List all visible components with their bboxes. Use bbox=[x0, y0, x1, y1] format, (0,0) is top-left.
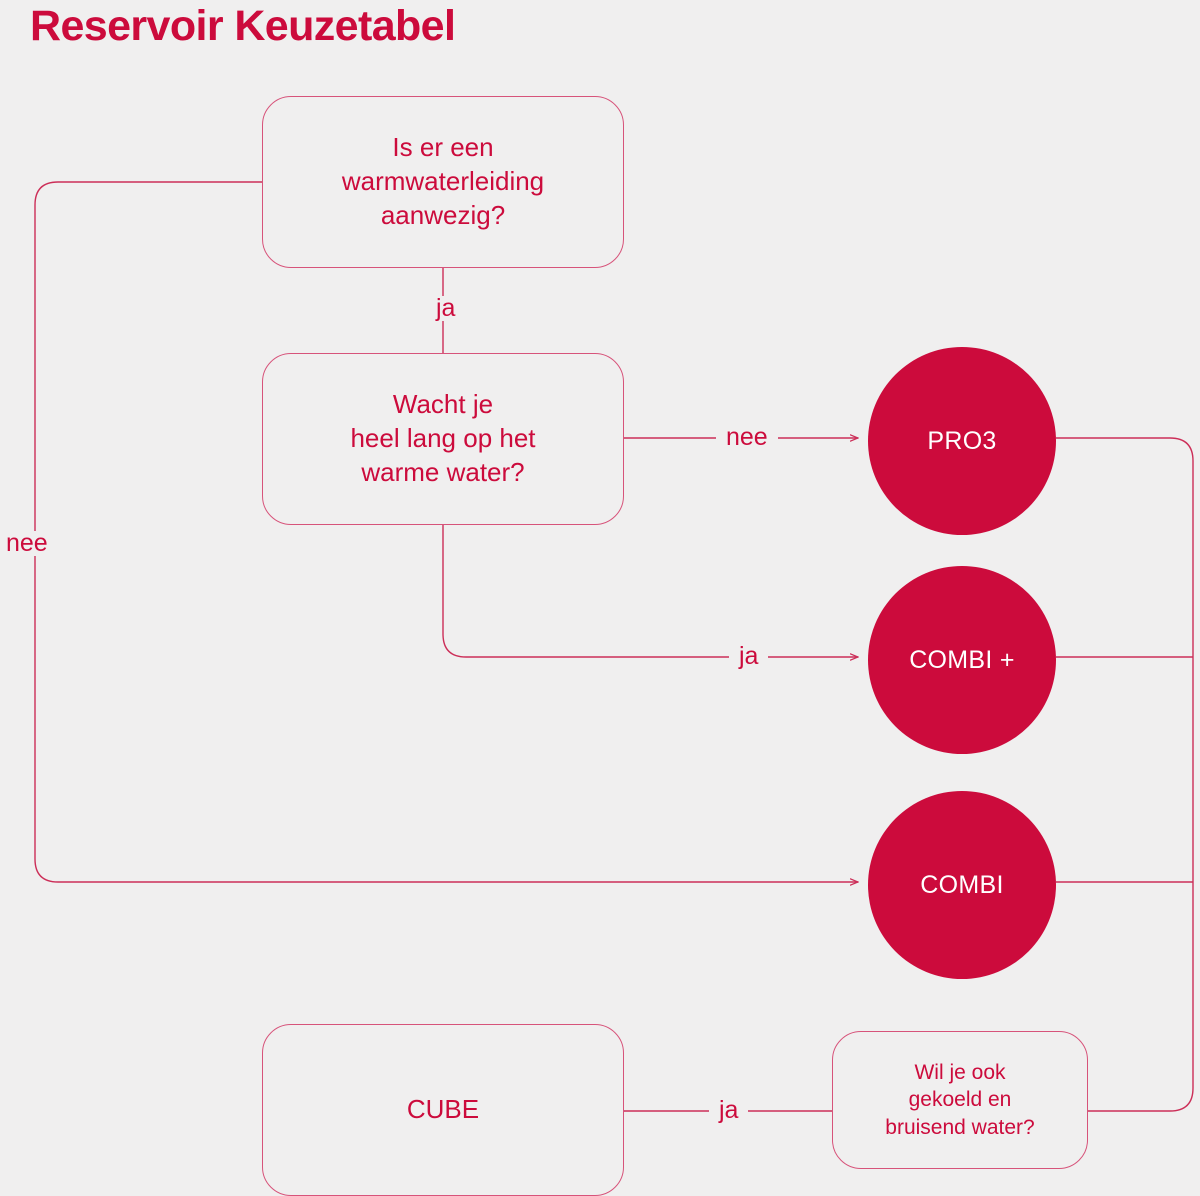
result-node-combi-plus-label: COMBI + bbox=[909, 646, 1015, 675]
edge-warmwater-nee bbox=[35, 182, 858, 882]
flowchart-canvas: Reservoir Keuzetabel Is er een warmwater… bbox=[0, 0, 1200, 1195]
decision-node-wachttijd-label: Wacht je heel lang op het warme water? bbox=[336, 388, 549, 489]
edge-label-wacht-nee: nee bbox=[716, 425, 778, 450]
result-node-cube-label: CUBE bbox=[393, 1093, 493, 1127]
edge-pro3-out bbox=[1056, 438, 1193, 1111]
decision-node-bruisend-water-label: Wil je ook gekoeld en bruisend water? bbox=[871, 1059, 1048, 1141]
result-node-combi[interactable]: COMBI bbox=[868, 791, 1056, 979]
page-title: Reservoir Keuzetabel bbox=[30, 2, 455, 51]
decision-node-bruisend-water[interactable]: Wil je ook gekoeld en bruisend water? bbox=[832, 1031, 1088, 1169]
edge-label-wacht-ja: ja bbox=[729, 644, 768, 669]
decision-node-warmwaterleiding[interactable]: Is er een warmwaterleiding aanwezig? bbox=[262, 96, 624, 268]
result-node-combi-label: COMBI bbox=[920, 871, 1003, 900]
decision-node-wachttijd[interactable]: Wacht je heel lang op het warme water? bbox=[262, 353, 624, 525]
result-node-cube[interactable]: CUBE bbox=[262, 1024, 624, 1196]
edge-wacht-ja bbox=[443, 525, 858, 657]
result-node-pro3-label: PRO3 bbox=[927, 427, 996, 456]
result-node-pro3[interactable]: PRO3 bbox=[868, 347, 1056, 535]
edge-label-warmwater-ja: ja bbox=[426, 296, 465, 321]
edge-label-bruisend-ja: ja bbox=[709, 1098, 748, 1123]
result-node-combi-plus[interactable]: COMBI + bbox=[868, 566, 1056, 754]
edge-label-warmwater-nee: nee bbox=[0, 531, 58, 556]
decision-node-warmwaterleiding-label: Is er een warmwaterleiding aanwezig? bbox=[328, 131, 558, 232]
